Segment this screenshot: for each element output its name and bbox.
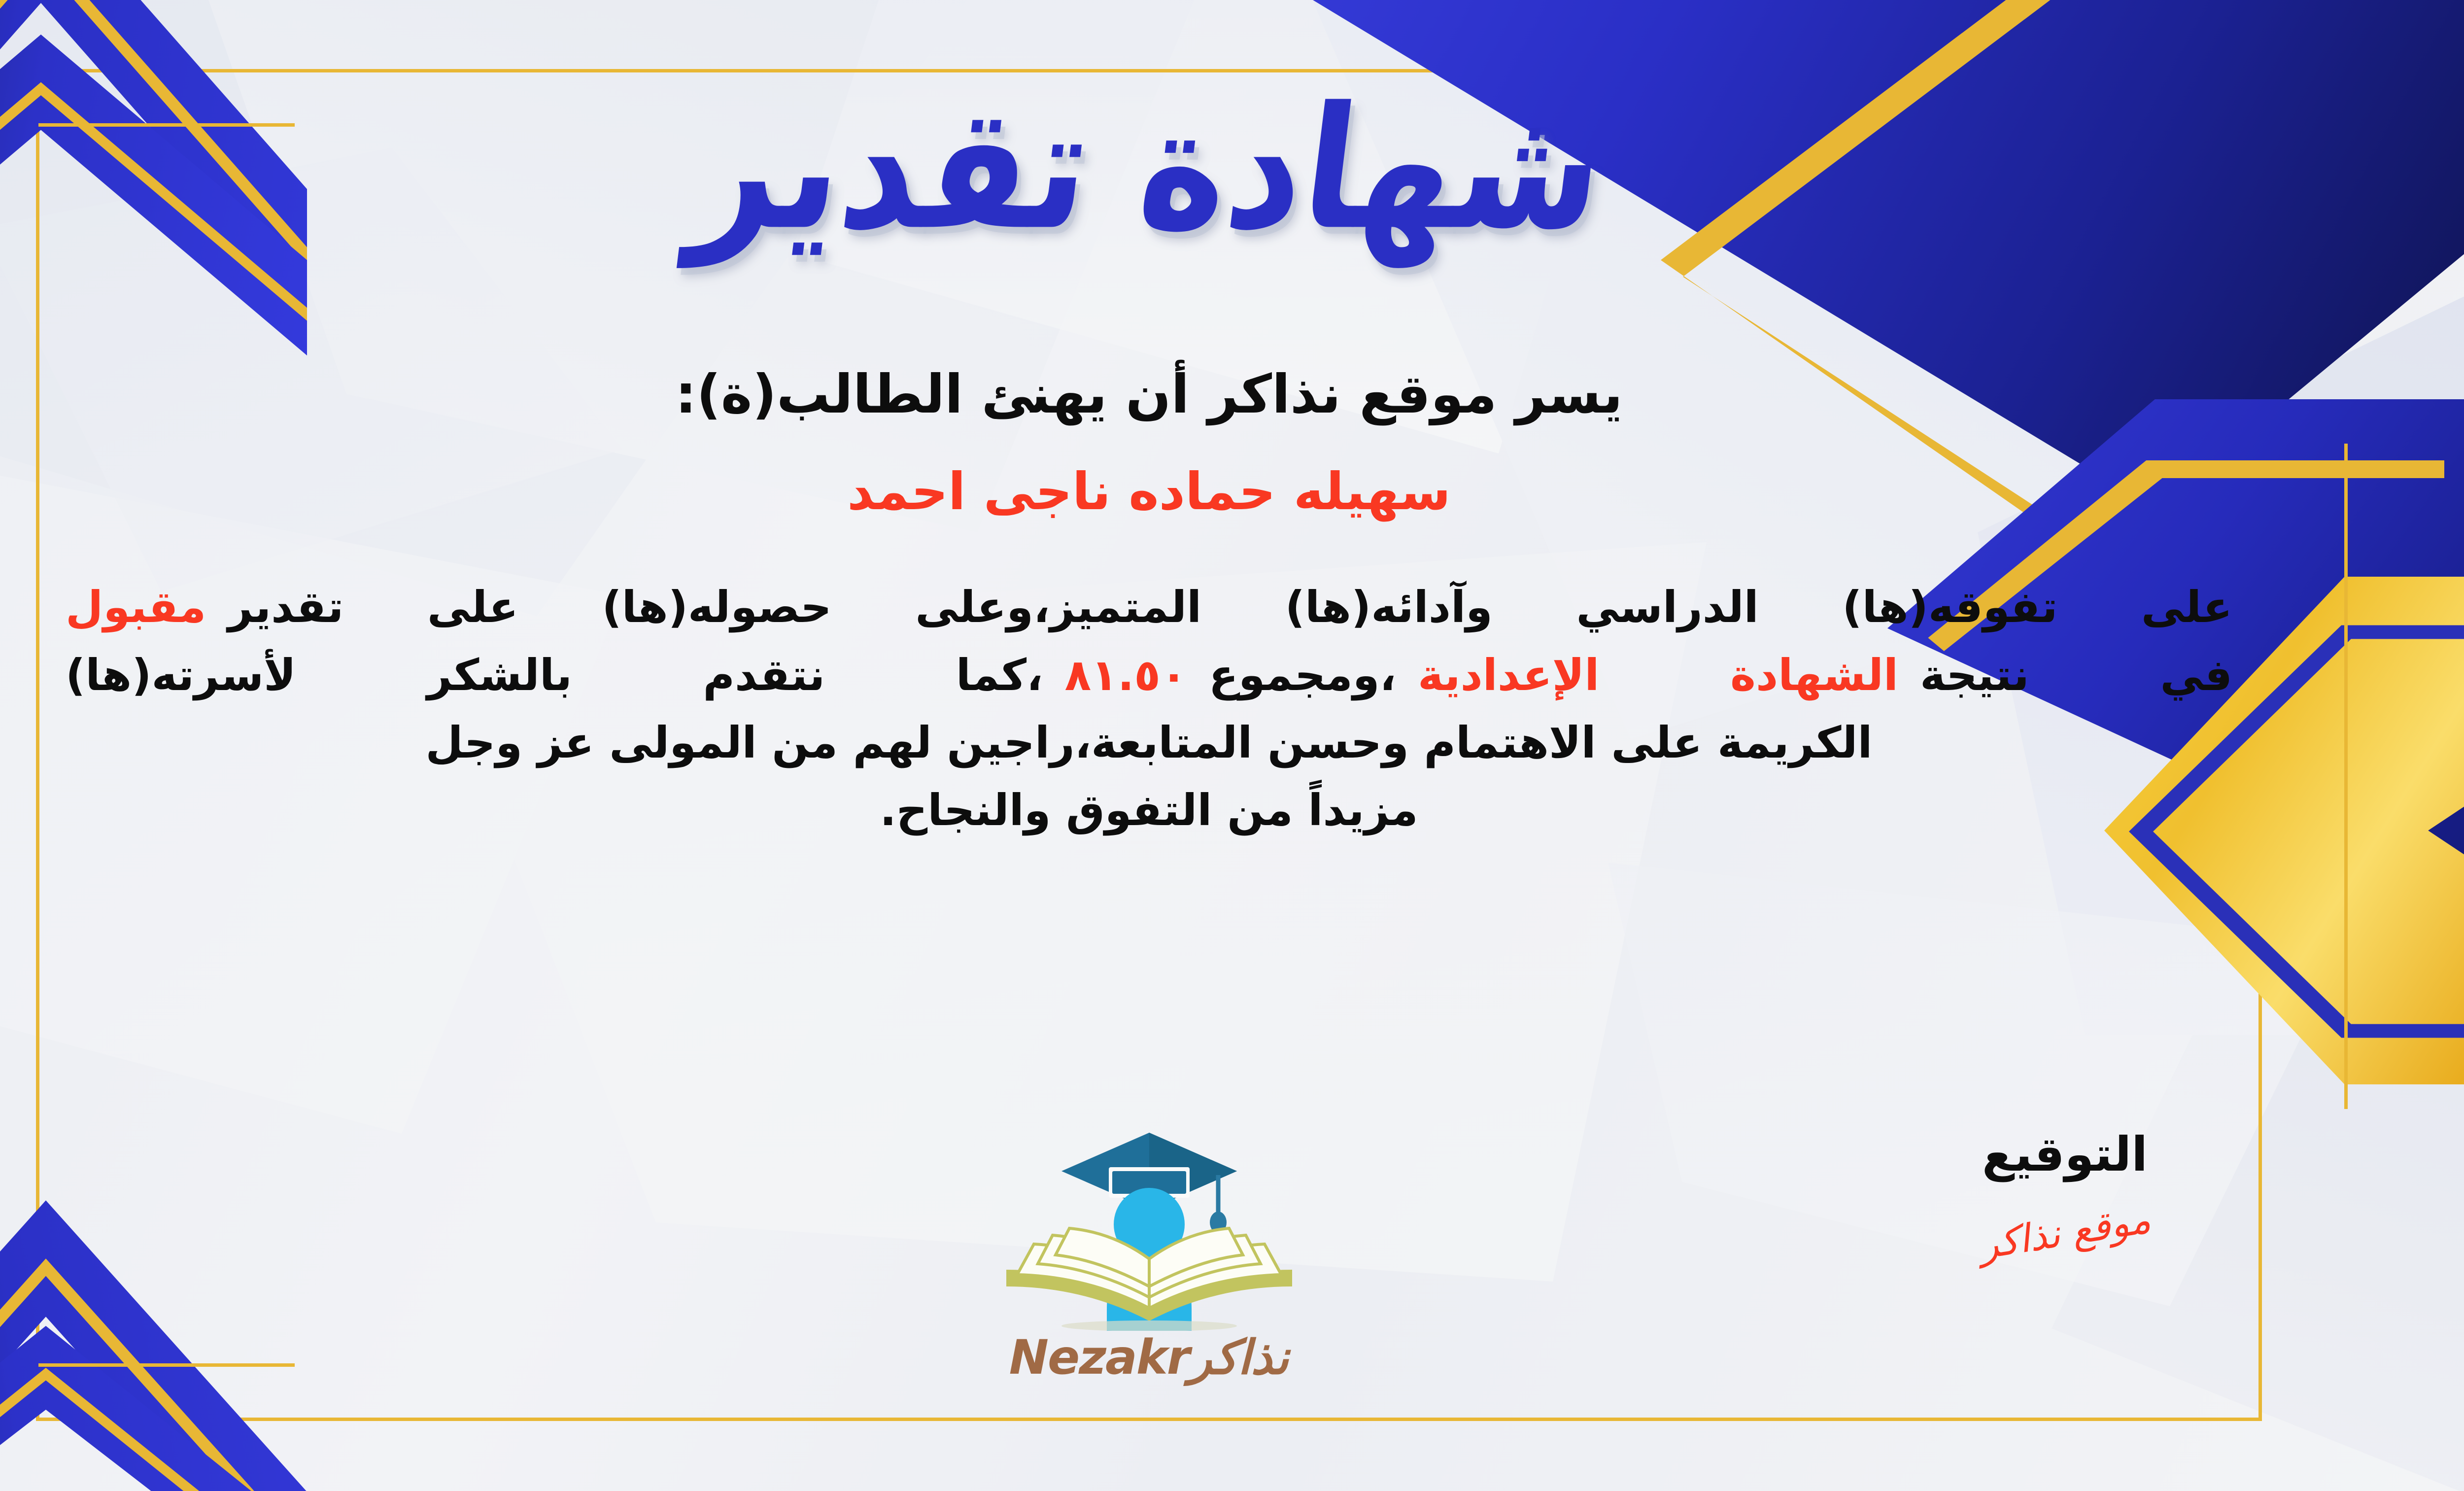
logo-wordmark: نذاكرNezakr — [1009, 1334, 1289, 1381]
certificate-footer: نذاكرNezakr التوقيع موقع نذاكر — [66, 1129, 2232, 1434]
student-name: سهيله حماده ناجى احمد — [66, 461, 2232, 522]
logo-illustration — [987, 1124, 1312, 1331]
total-score-value: ٨١.٥٠ — [1064, 650, 1187, 700]
page-title: شهادة تقدير — [683, 66, 1616, 272]
graduate-book-icon — [987, 1124, 1312, 1331]
citation-line-3: الكريمة على الاهتمام وحسن المتابعة،راجين… — [66, 709, 2232, 776]
citation-line-1-text: على تفوقه(ها) الدراسي وآدائه(ها) المتميز… — [228, 582, 2232, 632]
greeting-text: يسر موقع نذاكر أن يهنئ الطالب(ة): — [66, 360, 2232, 430]
grade-value: مقبول — [66, 582, 206, 632]
citation-line-2: في نتيجةالشهادة الإعدادية،ومجموع٨١.٥٠،كم… — [66, 641, 2232, 709]
citation-line-2-prefix: في نتيجة — [1920, 650, 2232, 700]
logo-brand-arabic: نذاكر — [1189, 1330, 1289, 1385]
brand-logo: نذاكرNezakr — [66, 1124, 2232, 1381]
citation-line-1: على تفوقه(ها) الدراسي وآدائه(ها) المتميز… — [66, 573, 2232, 641]
logo-brand-latin: Nezakr — [1009, 1330, 1189, 1385]
signature-label: التوقيع — [1927, 1129, 2203, 1181]
citation-line-2-suffix: ،كما نتقدم بالشكر لأسرته(ها) — [66, 650, 1043, 700]
signature-block: التوقيع موقع نذاكر — [1927, 1129, 2203, 1252]
citation-line-2-middle: ،ومجموع — [1209, 650, 1396, 700]
exam-name: الشهادة الإعدادية — [1418, 650, 1898, 700]
citation-line-4: مزيداً من التفوق والنجاح. — [66, 776, 2232, 844]
certificate-page: شهادة تقدير يسر موقع نذاكر أن يهنئ الطال… — [0, 0, 2464, 1491]
certificate-title-area: شهادة تقدير — [0, 79, 2464, 259]
certificate-body: يسر موقع نذاكر أن يهنئ الطالب(ة): سهيله … — [66, 360, 2232, 844]
citation-paragraph: على تفوقه(ها) الدراسي وآدائه(ها) المتميز… — [66, 573, 2232, 844]
